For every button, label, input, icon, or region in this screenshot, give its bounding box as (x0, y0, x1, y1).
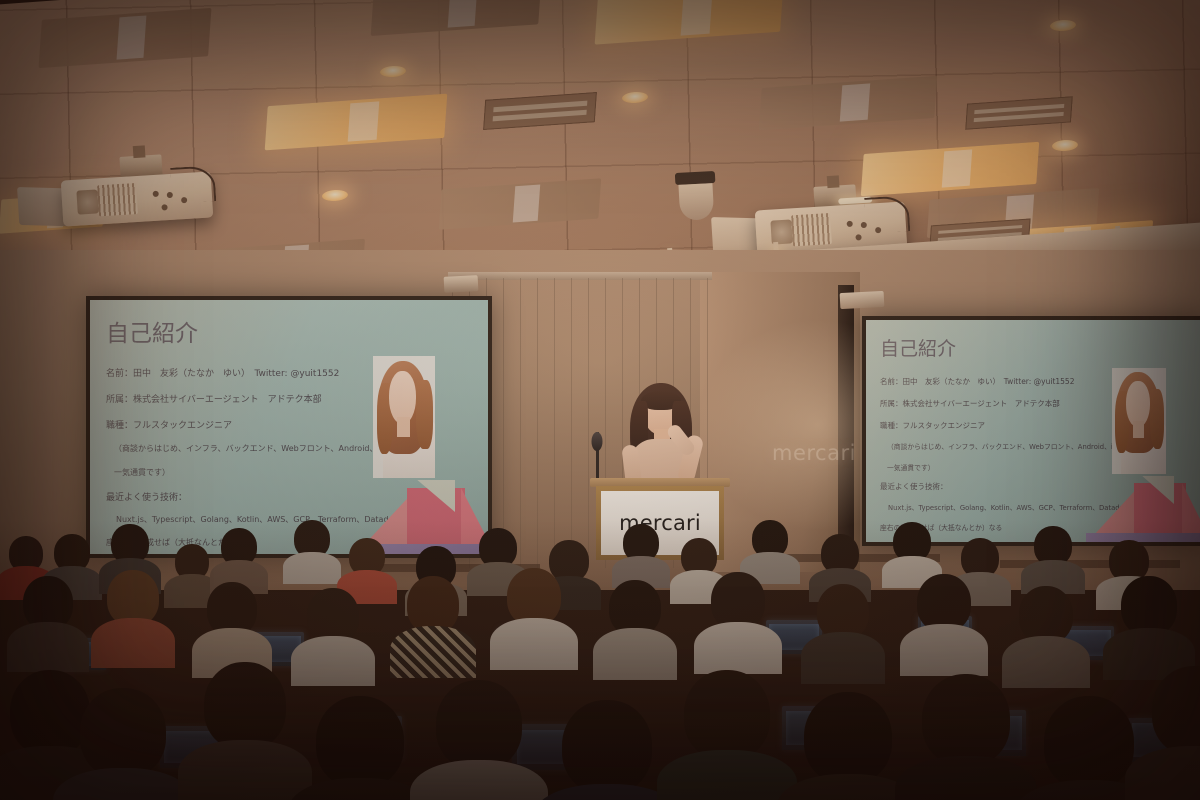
audience-member (742, 520, 798, 580)
person-shoulders (7, 622, 89, 672)
person-shoulders (490, 618, 578, 670)
person-shoulders (593, 628, 677, 680)
audience-member (496, 568, 572, 662)
person-shoulders (801, 632, 885, 684)
audience-member (286, 520, 338, 582)
audience-member (396, 576, 470, 668)
person-head (436, 680, 522, 770)
person-shoulders (694, 622, 782, 674)
audience-member (1110, 576, 1188, 670)
audience-member (420, 680, 538, 800)
audience-member (196, 582, 268, 670)
slide-portrait-photo-right (1112, 368, 1166, 474)
person-shoulders (895, 756, 1037, 800)
slide-line-detail1-left: （商談からはじめ、インフラ、バックエンド、Webフロント、Android、iOS… (114, 443, 399, 454)
person-shoulders (178, 740, 312, 800)
person-head (316, 696, 404, 788)
projector-vent-grill-left (97, 183, 138, 216)
person-head (922, 674, 1010, 766)
slide-line-org-left: 所属：株式会社サイバーエージェント アドテク本部 (106, 392, 322, 405)
slide-line-role-right: 職種：フルスタックエンジニア (880, 420, 985, 431)
audience-member (96, 570, 170, 660)
audience-member (614, 524, 668, 586)
person-head (804, 692, 892, 784)
audience-member (300, 696, 420, 800)
projector-lens-left (76, 189, 98, 214)
dome-body (678, 183, 714, 221)
wall-ac-unit-left (444, 275, 479, 293)
audience-member (296, 588, 370, 678)
person-shoulders (91, 618, 175, 668)
slide-title-left: 自己紹介 (106, 314, 198, 348)
person-head (1044, 696, 1134, 790)
left-projection-screen: 自己紹介 名前：田中 友彩（たなか ゆい） Twitter: @yuit1552… (86, 296, 492, 558)
audience-member (788, 692, 908, 800)
slide-portrait-photo-left (373, 356, 435, 478)
slide-line-name-right: 名前：田中 友彩（たなか ゆい） Twitter: @yuit1552 (880, 376, 1074, 387)
audience-member (806, 584, 880, 676)
person-shoulders (283, 552, 341, 584)
right-projection-screen: 自己紹介 名前：田中 友彩（たなか ゆい） Twitter: @yuit1552… (862, 316, 1200, 546)
conference-room-photo: mercari 自己紹介 名前：田中 友彩（たなか ゆい） Twitter: @… (0, 0, 1200, 800)
person-head (562, 700, 652, 794)
wall-ac-unit-right (840, 291, 885, 309)
audience-member (1136, 666, 1200, 800)
person-shoulders (410, 760, 548, 800)
slide-line-detail2-left: 一気通貫です） (114, 467, 170, 478)
person-head (1121, 576, 1177, 636)
person-shoulders (657, 750, 797, 800)
ceiling-projector-left (61, 171, 214, 226)
audience-member (546, 700, 668, 800)
audience-member (1024, 526, 1082, 588)
slide-line-name-left: 名前：田中 友彩（たなか ゆい） Twitter: @yuit1552 (106, 366, 339, 379)
projector-cable-right (864, 195, 910, 234)
person-shoulders (291, 636, 375, 686)
projector-cable-left (170, 165, 216, 204)
audience-member (598, 580, 672, 672)
projector-vent-grill-right (791, 213, 832, 246)
microphone-head (592, 432, 603, 451)
audience-member (700, 572, 776, 666)
person-head (1152, 666, 1200, 756)
audience-member (1008, 586, 1084, 678)
audience-member (668, 670, 786, 800)
slide-line-org-right: 所属：株式会社サイバーエージェント アドテク本部 (880, 398, 1060, 409)
slide-line-tech-label-left: 最近よく使う技術： (106, 490, 187, 503)
person-shoulders (1125, 746, 1200, 800)
slide-line-tech-label-right: 最近よく使う技術： (880, 481, 948, 492)
slide-line-detail2-right: 一気通貫です） (887, 462, 935, 472)
person-head (684, 670, 770, 760)
audience-member (906, 574, 982, 668)
person-shoulders (53, 768, 193, 800)
person-head (204, 662, 286, 750)
person-shoulders (390, 626, 476, 678)
person-head (80, 688, 166, 778)
slide-line-detail1-right: （商談からはじめ、インフラ、バックエンド、Webフロント、Android、iOS… (887, 441, 1129, 451)
audience-member (64, 688, 182, 800)
slide-title-right: 自己紹介 (880, 334, 956, 361)
audience-member (188, 662, 302, 798)
person-shoulders (900, 624, 988, 676)
ceiling-dome-speaker (675, 171, 717, 219)
audience-member (906, 674, 1026, 800)
slide-line-role-left: 職種：フルスタックエンジニア (106, 418, 232, 431)
audience (0, 520, 1200, 800)
audience-member (12, 576, 84, 664)
